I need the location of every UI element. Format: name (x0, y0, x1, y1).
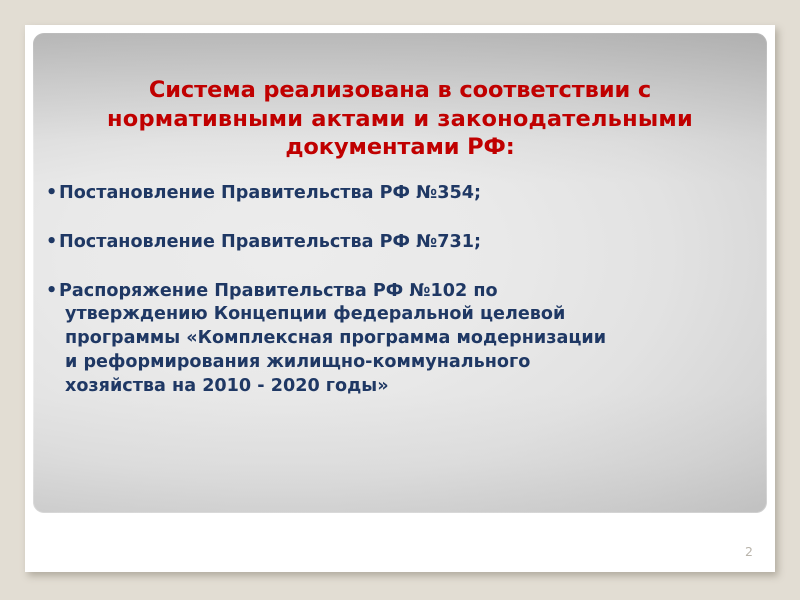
bullet-item-1-text: Постановление Правительства РФ №354; (59, 182, 741, 206)
slide-bullet-list: • Постановление Правительства РФ №354; •… (41, 182, 741, 399)
slide-card: Система реализована в соответствии с нор… (25, 25, 775, 572)
bullet-3-line-1: Распоряжение Правительства РФ №102 по (59, 280, 741, 304)
bullet-marker-icon: • (46, 280, 57, 304)
slide-title: Система реализована в соответствии с нор… (55, 76, 745, 162)
bullet-2-line-1: Постановление Правительства РФ №731; (59, 231, 741, 255)
bullet-item-1: • Постановление Правительства РФ №354; (41, 182, 741, 206)
bullet-3-line-4: и реформирования жилищно-коммунального (59, 351, 741, 375)
panel-bottom-gradient-overlay (33, 393, 767, 513)
bullet-item-3: • Распоряжение Правительства РФ №102 по … (41, 280, 741, 399)
slide-title-line-3: документами РФ: (55, 133, 745, 162)
bullet-marker-icon: • (46, 231, 57, 255)
slide-title-line-2: нормативными актами и законодательными (55, 105, 745, 134)
bullet-3-line-5: хозяйства на 2010 - 2020 годы» (59, 375, 741, 399)
bullet-3-line-3: программы «Комплексная программа модерни… (59, 327, 741, 351)
page-number: 2 (745, 544, 753, 559)
bullet-item-3-text: Распоряжение Правительства РФ №102 по ут… (59, 280, 741, 399)
bullet-item-2: • Постановление Правительства РФ №731; (41, 231, 741, 255)
slide-title-line-1: Система реализована в соответствии с (55, 76, 745, 105)
slide-content-panel: Система реализована в соответствии с нор… (33, 33, 767, 513)
bullet-item-2-text: Постановление Правительства РФ №731; (59, 231, 741, 255)
bullet-3-line-2: утверждению Концепции федеральной целево… (59, 303, 741, 327)
bullet-marker-icon: • (46, 182, 57, 206)
bullet-1-line-1: Постановление Правительства РФ №354; (59, 182, 741, 206)
